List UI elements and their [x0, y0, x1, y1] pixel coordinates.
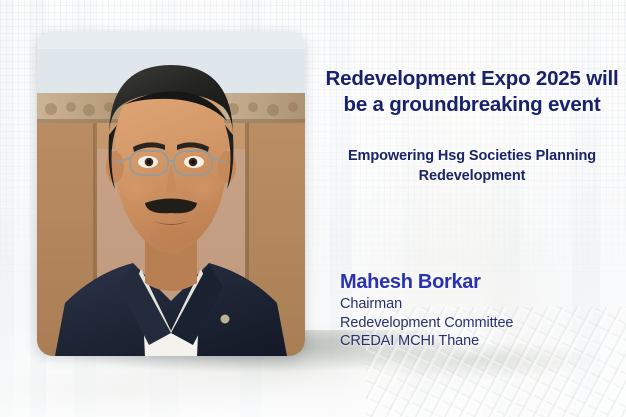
subheadline: Empowering Hsg Societies Planning Redeve…	[318, 146, 626, 186]
person-committee: Redevelopment Committee	[340, 314, 626, 333]
person-name: Mahesh Borkar	[340, 270, 626, 295]
person-role: Chairman	[340, 295, 626, 314]
portrait-photo	[37, 31, 305, 356]
person-credit-block: Mahesh Borkar Chairman Redevelopment Com…	[340, 270, 626, 351]
portrait-illustration	[37, 31, 305, 356]
text-column: Redevelopment Expo 2025 will be a ground…	[318, 0, 626, 417]
headline: Redevelopment Expo 2025 will be a ground…	[318, 66, 626, 118]
person-organization: CREDAI MCHI Thane	[340, 332, 626, 351]
promo-card: Redevelopment Expo 2025 will be a ground…	[0, 0, 626, 417]
